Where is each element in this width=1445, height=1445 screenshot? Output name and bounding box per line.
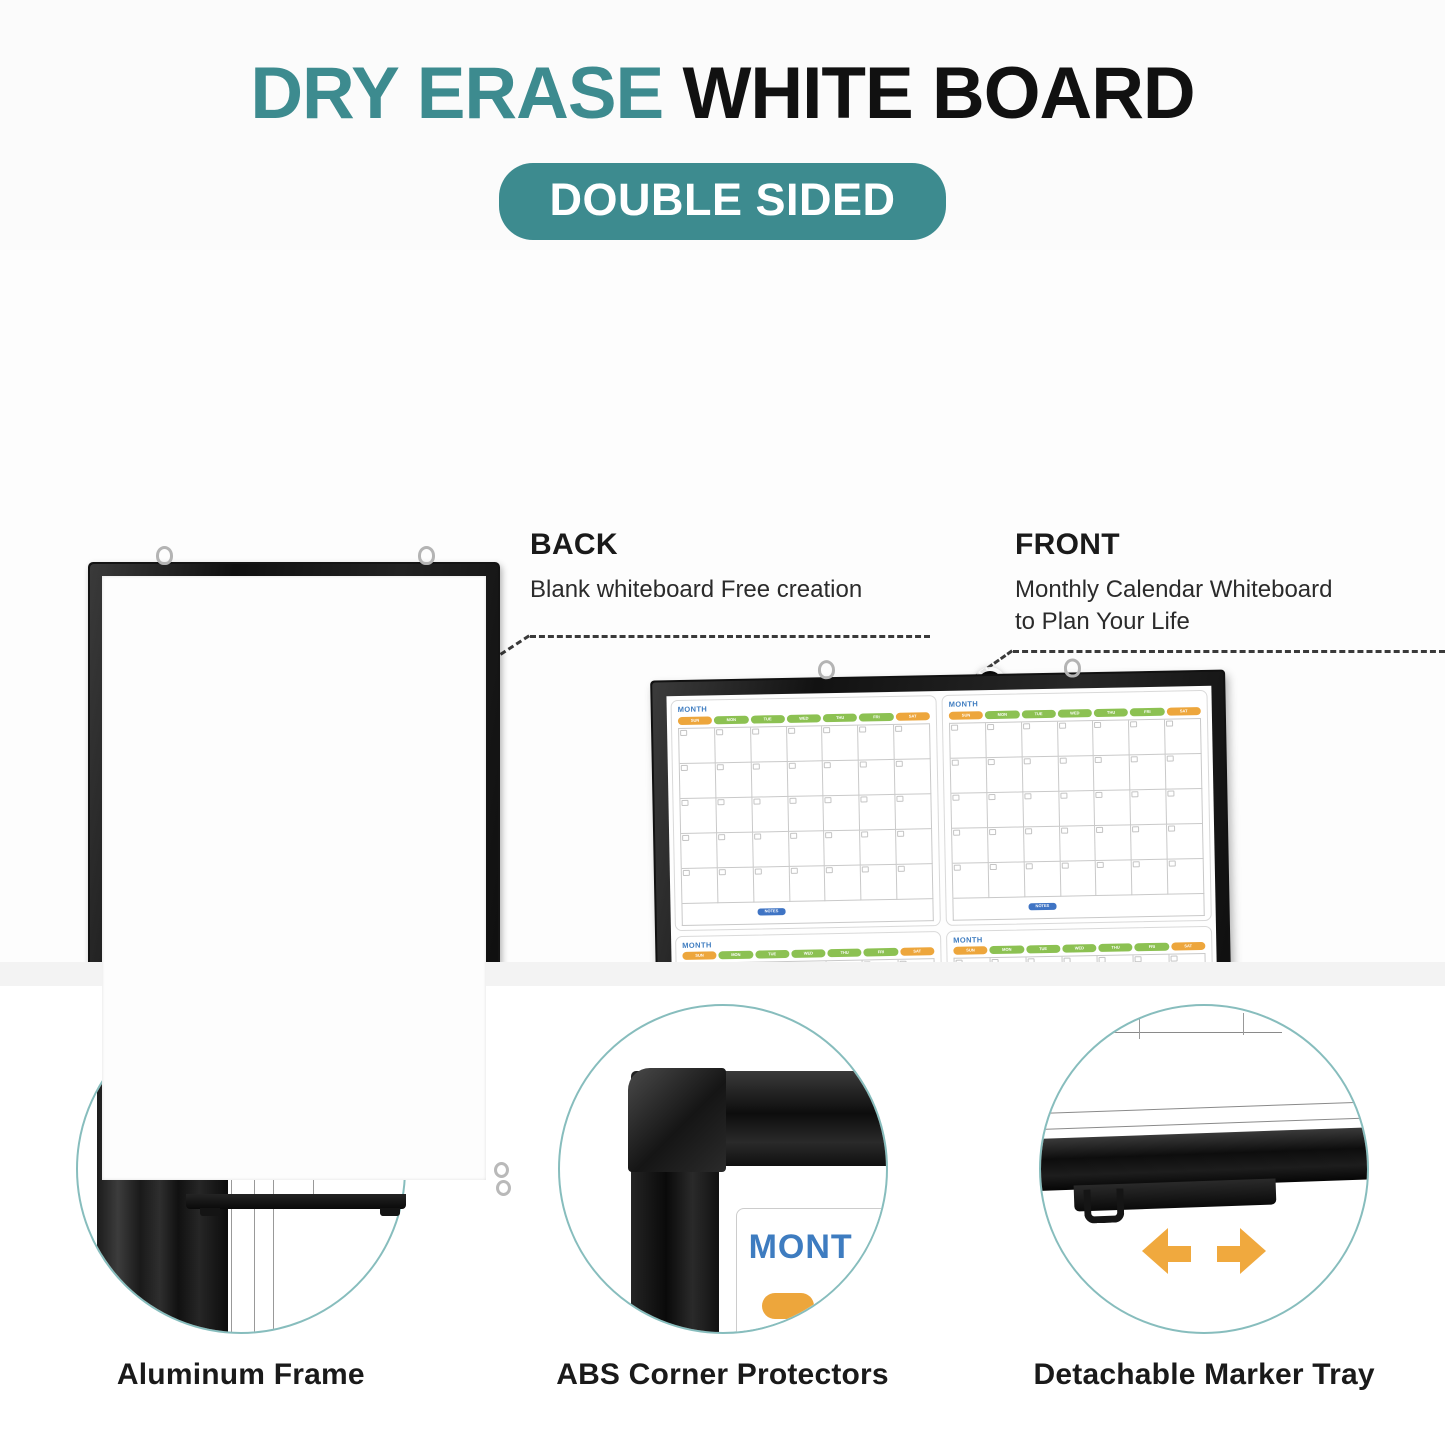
board-grid-line [1243, 1013, 1244, 1036]
hanging-ring-icon [494, 1162, 509, 1178]
calendar-cell [1022, 721, 1059, 757]
calendar-cell [825, 865, 862, 901]
arrow-right-icon [1240, 1228, 1266, 1274]
calendar-cell [1096, 860, 1133, 896]
calendar-cell [859, 759, 896, 795]
calendar-cell [824, 830, 861, 866]
calendar-cell [897, 864, 934, 900]
calendar-cell [822, 725, 859, 761]
leader-line-back-horizontal [530, 635, 930, 638]
hanging-ring-icon [818, 660, 835, 679]
calendar-cell [1132, 859, 1169, 895]
calendar-cell [681, 833, 718, 869]
day-pill-fragment [762, 1293, 814, 1319]
calendar-cell [896, 829, 933, 865]
marker-tray-closeup [1039, 1004, 1369, 1334]
calendar-day-pill: THU [823, 713, 857, 722]
calendar-day-pill: SAT [900, 947, 934, 956]
calendar-cell [986, 722, 1023, 758]
back-whiteboard [88, 562, 500, 1197]
calendar-day-pill: MON [985, 710, 1019, 719]
calendar-panel: MONTHSUNMONTUEWEDTHUFRISATNOTES [941, 690, 1211, 926]
calendar-cell [753, 866, 790, 902]
tray-clip [200, 1208, 220, 1216]
calendar-cell [1168, 858, 1205, 894]
calendar-cell [1093, 720, 1130, 756]
calendar-cell [1024, 861, 1061, 897]
calendar-cell [953, 863, 990, 899]
calendar-cell [1131, 789, 1168, 825]
calendar-cell [680, 798, 717, 834]
calendar-cell [860, 794, 897, 830]
arrow-right-icon [1217, 1246, 1243, 1262]
calendar-cell [1024, 826, 1061, 862]
calendar-day-pill: MON [714, 715, 748, 724]
calendar-grid [678, 723, 933, 904]
feature-label-abs-corner: ABS Corner Protectors [556, 1358, 889, 1392]
calendar-cell [1058, 721, 1095, 757]
calendar-cell [1165, 718, 1202, 754]
tray-clip [380, 1208, 400, 1216]
calendar-cell [787, 726, 824, 762]
feature-marker-tray: Detachable Marker Tray [963, 986, 1445, 1445]
calendar-day-pill: FRI [864, 948, 898, 957]
calendar-day-pill: TUE [750, 714, 784, 723]
calendar-cell [1094, 755, 1131, 791]
calendar-cell [1095, 790, 1132, 826]
calendar-day-pill: THU [1094, 708, 1128, 717]
calendar-cell [951, 758, 988, 794]
board-bottom-edge [1039, 1101, 1369, 1115]
calendar-cell [860, 829, 897, 865]
feature-label-marker-tray: Detachable Marker Tray [1034, 1358, 1375, 1392]
calendar-cell [1023, 791, 1060, 827]
calendar-cell [751, 761, 788, 797]
callout-front: FRONT Monthly Calendar Whiteboard to Pla… [1015, 528, 1333, 637]
calendar-cell [824, 795, 861, 831]
marker-tray-hook [1083, 1188, 1124, 1223]
calendar-cell [789, 831, 826, 867]
calendar-cell [679, 728, 716, 764]
calendar-day-pill: SAT [895, 712, 929, 721]
leader-line-front-horizontal [1013, 650, 1445, 653]
calendar-day-pill: TUE [1026, 945, 1060, 954]
calendar-day-pill: THU [1098, 943, 1132, 952]
calendar-cell [752, 796, 789, 832]
hero-header: DRY ERASE WHITE BOARD DOUBLE SIDED [0, 0, 1445, 250]
feature-label-aluminum-frame: Aluminum Frame [117, 1358, 365, 1392]
calendar-cell [1129, 719, 1166, 755]
calendar-cell [1130, 754, 1167, 790]
calendar-cell [682, 868, 719, 904]
calendar-day-pill: SUN [953, 946, 987, 955]
calendar-cell [894, 724, 931, 760]
calendar-notes-label: NOTES [758, 908, 786, 916]
calendar-cell [1166, 753, 1203, 789]
product-showcase-section: BACK Blank whiteboard Free creation FRON… [0, 250, 1445, 962]
hanging-ring-icon [1064, 658, 1081, 677]
calendar-day-pill: WED [1058, 709, 1092, 718]
calendar-cell [1166, 788, 1203, 824]
calendar-cell [751, 726, 788, 762]
board-grid-line [1139, 1013, 1140, 1039]
callout-back-body: Blank whiteboard Free creation [530, 574, 862, 606]
calendar-cell [1095, 825, 1132, 861]
calendar-cell [716, 762, 753, 798]
calendar-cell [952, 828, 989, 864]
callout-front-body-line2: to Plan Your Life [1015, 606, 1333, 638]
feature-abs-corner: MONT ABS Corner Protectors [482, 986, 964, 1445]
calendar-cell [718, 867, 755, 903]
calendar-day-pill: THU [827, 949, 861, 958]
calendar-panel: MONTHSUNMONTUEWEDTHUFRISATNOTES [671, 695, 941, 931]
badge-container: DOUBLE SIDED [0, 163, 1445, 240]
calendar-cell [895, 759, 932, 795]
calendar-day-pill: WED [791, 949, 825, 958]
page-title: DRY ERASE WHITE BOARD [0, 52, 1445, 135]
month-text-fragment: MONT [749, 1228, 853, 1267]
back-board-marker-tray [186, 1194, 406, 1209]
calendar-cell [989, 862, 1026, 898]
calendar-cell [715, 727, 752, 763]
callout-front-title: FRONT [1015, 528, 1333, 562]
calendar-cell [787, 761, 824, 797]
title-dry-erase: DRY ERASE [250, 53, 663, 134]
calendar-cell [1060, 861, 1097, 897]
callout-front-body-line1: Monthly Calendar Whiteboard [1015, 574, 1333, 606]
calendar-cell [680, 763, 717, 799]
calendar-day-pill: SUN [949, 711, 983, 720]
calendar-cell [716, 797, 753, 833]
double-sided-badge: DOUBLE SIDED [499, 163, 945, 240]
back-board-surface [102, 576, 486, 1180]
calendar-day-pill: FRI [1130, 707, 1164, 716]
calendar-cell [753, 831, 790, 867]
calendar-day-pill: WED [1062, 944, 1096, 953]
calendar-cell [1131, 824, 1168, 860]
calendar-day-pill: SUN [678, 716, 712, 725]
calendar-cell [717, 832, 754, 868]
calendar-cell [788, 796, 825, 832]
calendar-notes-row: NOTES [681, 899, 933, 926]
calendar-cell [950, 723, 987, 759]
calendar-day-pill: MON [990, 945, 1024, 954]
calendar-cell [988, 827, 1025, 863]
calendar-day-pill: TUE [1021, 709, 1055, 718]
hanging-ring-icon [156, 546, 173, 565]
calendar-cell [1060, 826, 1097, 862]
calendar-day-pill: WED [787, 714, 821, 723]
calendar-cell [1059, 791, 1096, 827]
calendar-cell [987, 757, 1024, 793]
hanging-ring-icon [418, 546, 435, 565]
calendar-cell [823, 760, 860, 796]
calendar-day-pill: SUN [682, 951, 716, 960]
calendar-cell [1167, 823, 1204, 859]
calendar-notes-row: NOTES [952, 893, 1204, 920]
calendar-day-pill: FRI [1135, 943, 1169, 952]
calendar-notes-label: NOTES [1028, 902, 1056, 910]
abs-corner-protector [628, 1068, 726, 1172]
calendar-cell [789, 866, 826, 902]
calendar-cell [951, 793, 988, 829]
calendar-cell [861, 864, 898, 900]
abs-corner-closeup: MONT [558, 1004, 888, 1334]
calendar-cell [896, 794, 933, 830]
calendar-day-pill: TUE [755, 950, 789, 959]
callout-back: BACK Blank whiteboard Free creation [530, 528, 862, 606]
calendar-cell [1022, 756, 1059, 792]
calendar-cell [987, 792, 1024, 828]
hanging-ring-icon [496, 1180, 511, 1196]
calendar-day-pill: MON [719, 951, 753, 960]
calendar-day-pill: FRI [859, 712, 893, 721]
calendar-day-pill: SAT [1171, 942, 1205, 951]
calendar-grid [949, 717, 1204, 898]
title-white-board: WHITE BOARD [683, 53, 1195, 134]
calendar-cell [1058, 756, 1095, 792]
calendar-day-pill: SAT [1166, 707, 1200, 716]
calendar-cell [858, 724, 895, 760]
arrow-left-icon [1165, 1246, 1191, 1262]
callout-back-title: BACK [530, 528, 862, 562]
